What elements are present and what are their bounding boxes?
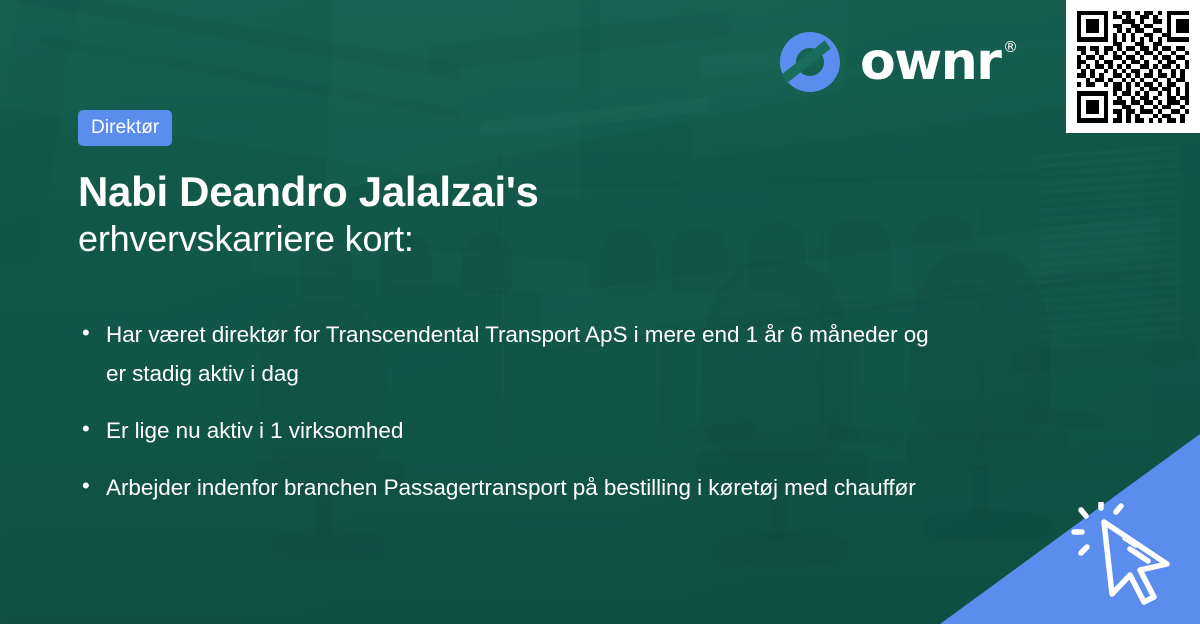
registered-trademark: ®: [1003, 40, 1017, 55]
click-cursor-icon: [1070, 502, 1188, 606]
role-badge: Direktør: [78, 110, 172, 146]
page-subtitle: erhvervskarriere kort:: [78, 217, 898, 261]
career-facts-list: Har været direktør for Transcendental Tr…: [80, 315, 940, 526]
qr-code-matrix: [1077, 11, 1189, 123]
list-item: Har været direktør for Transcendental Tr…: [80, 315, 940, 393]
card-content: Direktør Nabi Deandro Jalalzai's erhverv…: [78, 110, 898, 261]
page-title: Nabi Deandro Jalalzai's: [78, 168, 898, 217]
list-item: Er lige nu aktiv i 1 virksomhed: [80, 411, 940, 450]
ownr-circle-swoosh-icon: [778, 30, 842, 94]
qr-code[interactable]: [1066, 0, 1200, 133]
ownr-logo: ownr®: [778, 30, 1016, 94]
ownr-wordmark: ownr®: [860, 36, 1016, 88]
background-photo: [0, 0, 1200, 624]
list-item: Arbejder indenfor branchen Passagertrans…: [80, 468, 940, 507]
promo-card: ownr® Direktør Nabi Deandro Jalalzai's e…: [0, 0, 1200, 624]
